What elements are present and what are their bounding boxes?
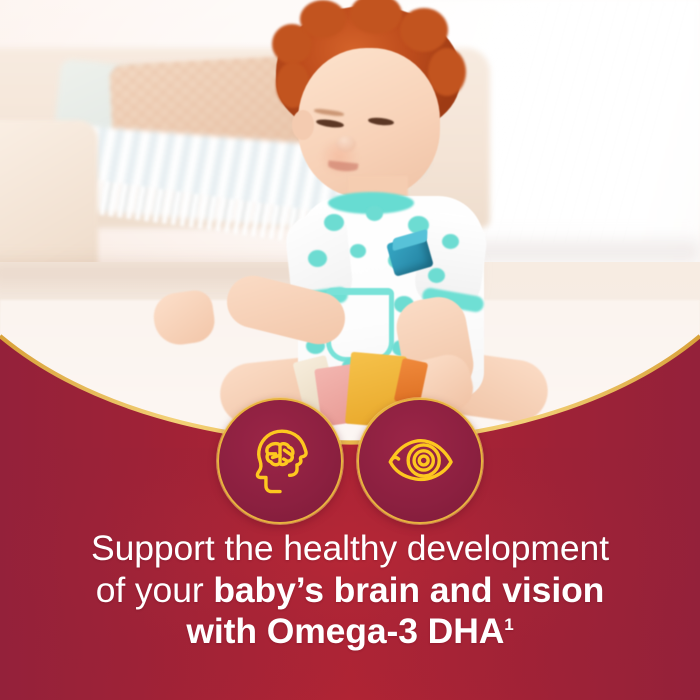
hair-curl [400,8,448,52]
headline: Support the healthy development of your … [0,528,700,653]
baby-ear [292,110,314,140]
romper-dot [324,214,344,231]
headline-line-1: Support the healthy development [0,528,700,570]
omega3-dha-baby-banner: Support the healthy development of your … [0,0,700,700]
romper-dot [428,268,445,283]
benefit-badges [0,398,700,524]
romper-dot [308,250,327,267]
romper-dot [350,244,366,258]
eye-icon [383,422,457,501]
headline-line-2: of your baby’s brain and vision [0,570,700,612]
baby-nose [336,136,356,152]
romper-dot [366,206,383,221]
headline-line-2-bold: baby’s brain and vision [213,570,604,610]
brain-head-icon [243,422,317,501]
headline-line-2-regular: of your [96,570,214,610]
romper-dot [442,234,459,249]
headline-line-3-bold: with Omega-3 DHA [186,611,504,651]
badge-vision[interactable] [357,398,483,524]
badge-brain[interactable] [217,398,343,524]
headline-line-3: with Omega-3 DHA1 [0,611,700,653]
footnote-marker: 1 [504,615,513,634]
hair-curl [300,0,346,38]
